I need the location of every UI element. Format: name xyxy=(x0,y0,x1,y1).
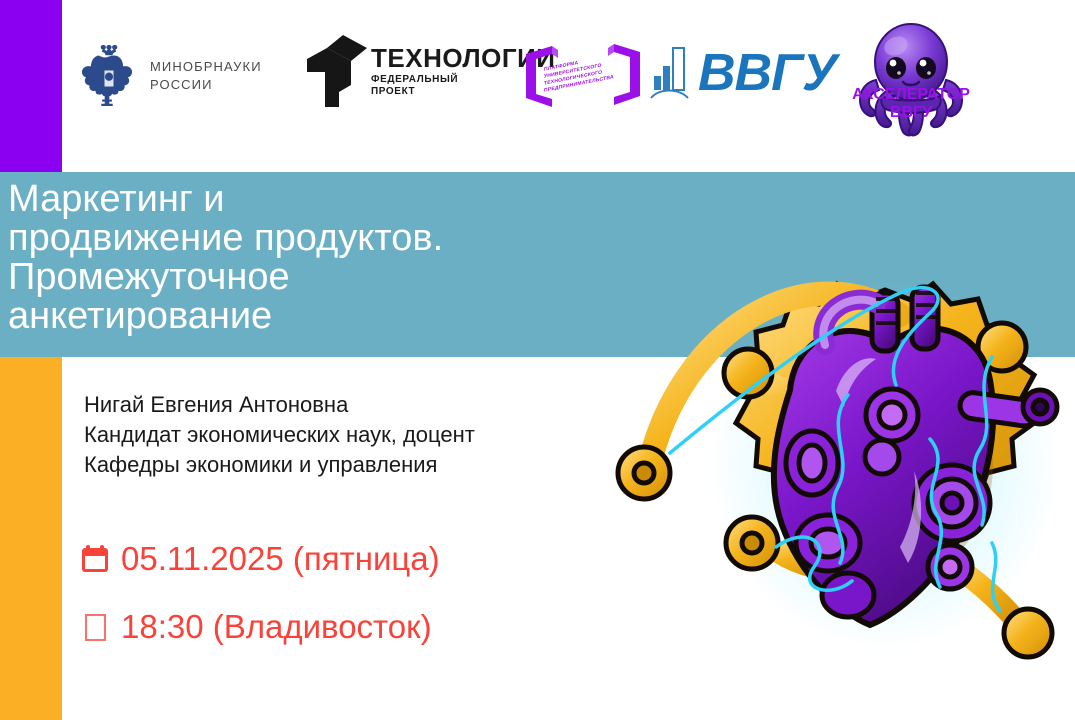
logo-vvgu-label: ВВГУ xyxy=(698,45,836,101)
calendar-icon xyxy=(78,542,112,576)
left-purple-bar xyxy=(0,0,62,172)
logo-vvgu: ВВГУ xyxy=(650,42,836,104)
clock-icon xyxy=(78,610,112,644)
event-time-line: 18:30 (Владивосток) xyxy=(78,608,432,646)
page-title: Маркетинг и продвижение продуктов. Проме… xyxy=(8,180,648,336)
event-date-text: 05.11.2025 (пятница) xyxy=(121,540,440,578)
mechanical-steampunk-heart-illustration xyxy=(600,195,1075,695)
purple-octopus-mascot xyxy=(852,18,970,146)
logo-platform-entrepreneurship: ПЛАТФОРМА УНИВЕРСИТЕТСКОГО ТЕХНОЛОГИЧЕСК… xyxy=(522,42,644,108)
logo-ministry-label: МИНОБРНАУКИ РОССИИ xyxy=(150,58,262,94)
logo-accelerator-vvgu: АКСЕЛЕРАТОР ВВГУ xyxy=(852,18,970,146)
logo-technologies-federal-project: ТЕХНОЛОГИИ ФЕДЕРАЛЬНЫЙ ПРОЕКТ xyxy=(307,35,556,107)
russian-double-headed-eagle-emblem xyxy=(80,40,138,112)
event-date-line: 05.11.2025 (пятница) xyxy=(78,540,440,578)
logo-ministry-of-science: МИНОБРНАУКИ РОССИИ xyxy=(80,40,262,112)
event-time-text: 18:30 (Владивосток) xyxy=(121,608,432,646)
logo-accelerator-label: АКСЕЛЕРАТОР ВВГУ xyxy=(846,86,976,122)
presentation-slide: МИНОБРНАУКИ РОССИИ ТЕХНОЛОГИИ ФЕДЕРАЛЬНЫ… xyxy=(0,0,1075,720)
logo-strip: МИНОБРНАУКИ РОССИИ ТЕХНОЛОГИИ ФЕДЕРАЛЬНЫ… xyxy=(62,0,1075,172)
vvgu-buildings-icon xyxy=(650,42,690,104)
left-orange-bar xyxy=(0,357,62,720)
technologies-arrow-mark xyxy=(307,35,367,107)
missing-glyph-box xyxy=(85,614,106,641)
speaker-info: Нигай Евгения Антоновна Кандидат экономи… xyxy=(84,390,475,480)
